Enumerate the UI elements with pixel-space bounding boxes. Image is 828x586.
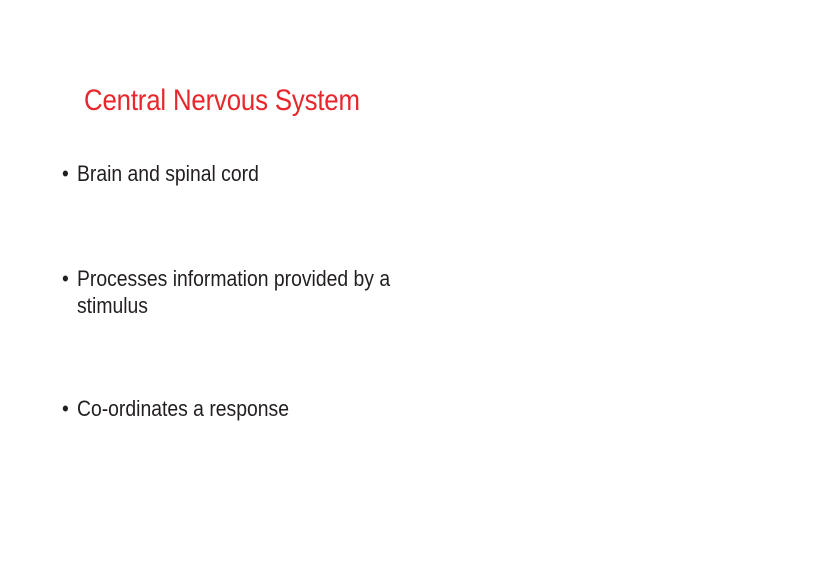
slide-canvas: Central Nervous System • Brain and spina… [0, 0, 828, 586]
list-item-label: Brain and spinal cord [77, 160, 415, 187]
column-central-nervous-system: Central Nervous System • Brain and spina… [0, 0, 414, 586]
bullet-dot-icon: • [62, 160, 69, 187]
bullet-list-left: • Brain and spinal cord • Processes info… [62, 160, 402, 422]
list-item: • Brain and spinal cord [62, 160, 415, 187]
list-item: • Co-ordinates a response [62, 395, 415, 422]
list-item: • Processes information provided by a st… [62, 265, 415, 319]
bullet-dot-icon: • [62, 265, 69, 292]
bullet-dot-icon: • [62, 395, 69, 422]
heading-central-nervous-system: Central Nervous System [84, 84, 360, 118]
list-item-label: Processes information provided by a stim… [77, 265, 415, 319]
column-peripheral-nervous-system: Peripheral Nervous System • Somatic ⟶ pa… [414, 0, 828, 586]
list-item-label: Co-ordinates a response [77, 395, 415, 422]
